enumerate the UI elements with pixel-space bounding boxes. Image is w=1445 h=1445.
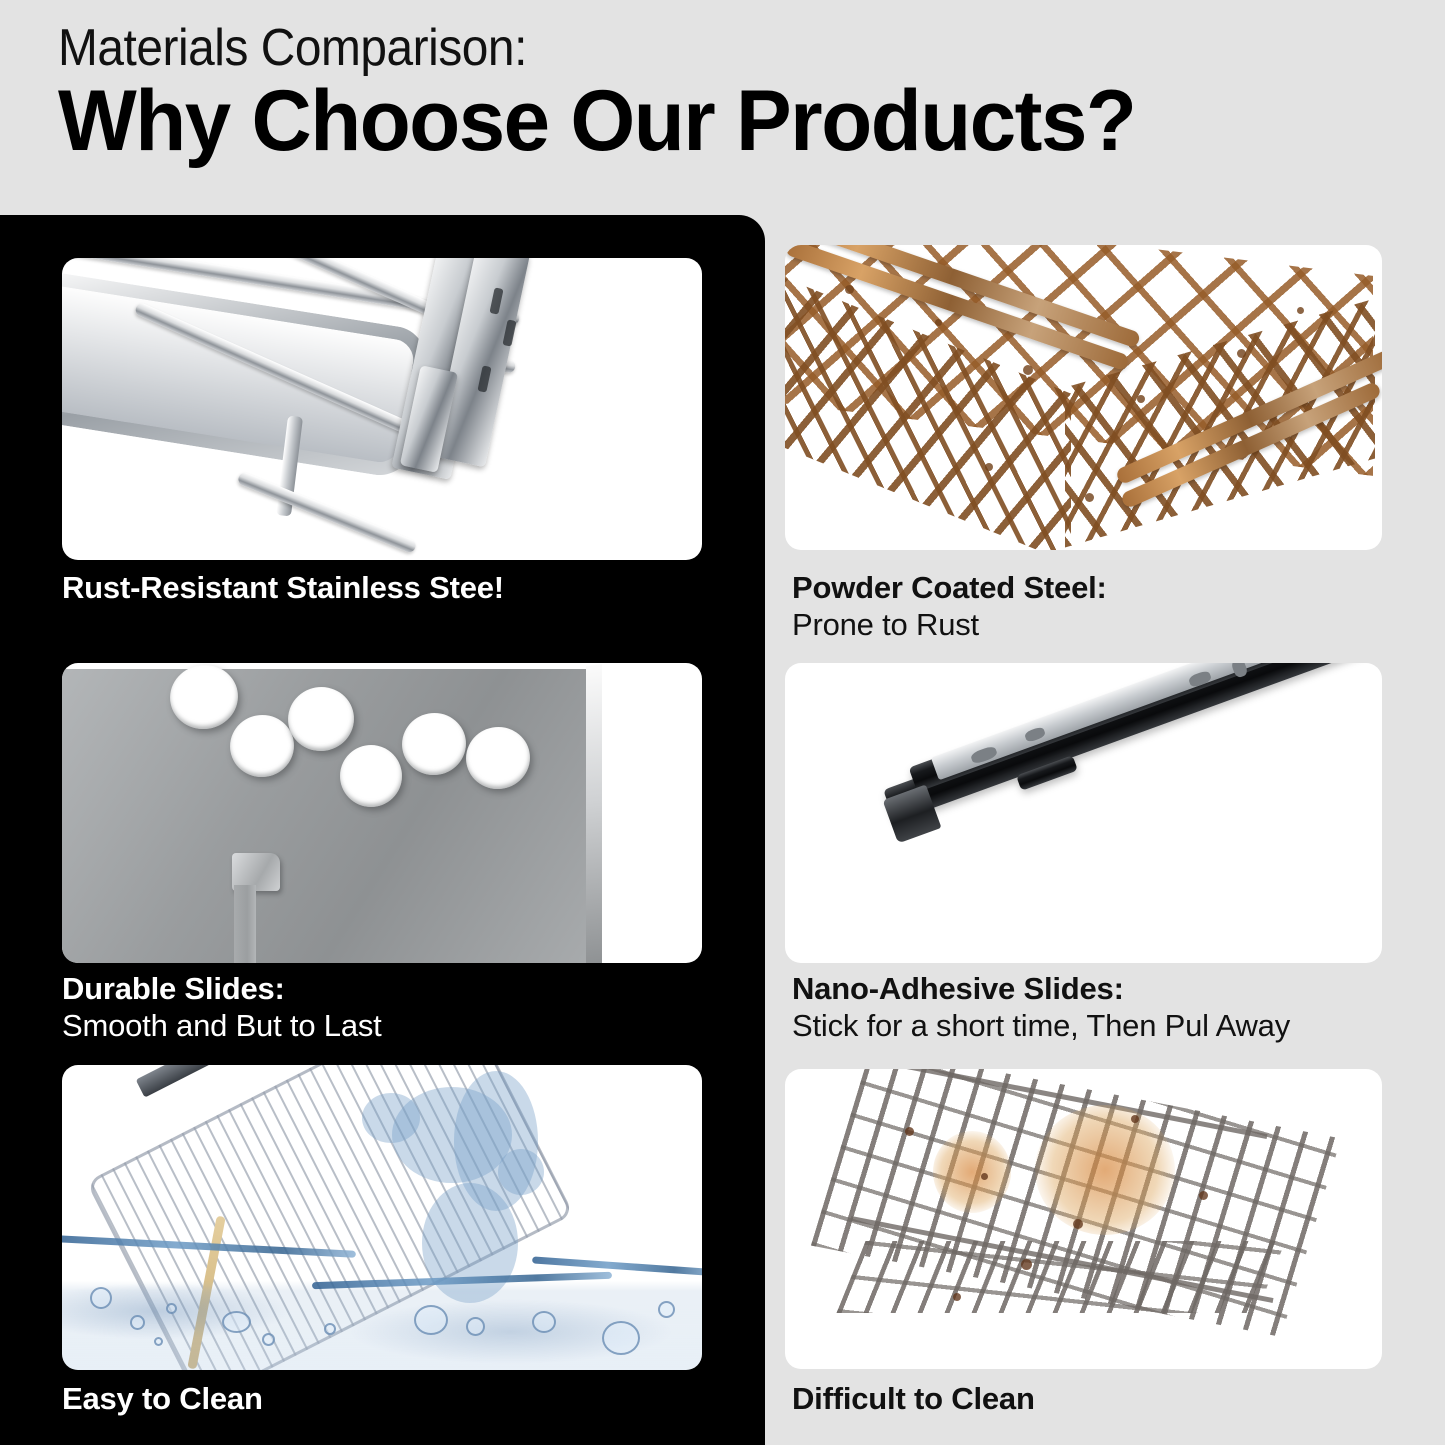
infographic-page: Materials Comparison: Why Choose Our Pro…: [0, 0, 1445, 1445]
left-row-2: Durable Slides: Smooth and But to Last: [0, 619, 765, 1049]
rust-art: [785, 245, 1382, 550]
right-caption-2-line1: Nano-Adhesive Slides:: [792, 971, 1290, 1008]
header-kicker: Materials Comparison:: [58, 22, 527, 74]
slide-art: [785, 663, 1382, 963]
chrome-wire-rack-with-slide-image: [62, 258, 702, 560]
left-caption-1-line1: Rust-Resistant Stainless Stee!: [62, 570, 504, 607]
right-caption-3: Difficult to Clean: [792, 1381, 1035, 1418]
right-caption-3-line1: Difficult to Clean: [792, 1381, 1035, 1418]
right-caption-1-line1: Powder Coated Steel:: [792, 570, 1107, 607]
dirty-art: [785, 1069, 1382, 1369]
right-row-2: Nano-Adhesive Slides: Stick for a short …: [765, 619, 1445, 1049]
left-row-1: Rust-Resistant Stainless Stee!: [0, 215, 765, 650]
right-row-1: Powder Coated Steel: Prone to Rust: [765, 215, 1445, 650]
rusty-wire-mesh-basket-corner-image: [785, 245, 1382, 550]
left-row-3: Easy to Clean: [0, 1023, 765, 1445]
black-drawer-slide-rail-image: [785, 663, 1382, 963]
page-title: Why Choose Our Products?: [58, 78, 1135, 164]
left-caption-3-line1: Easy to Clean: [62, 1381, 263, 1418]
stained-dirty-wire-basket-image: [785, 1069, 1382, 1369]
rack-art: [62, 258, 702, 560]
header: Materials Comparison: Why Choose Our Pro…: [0, 0, 1445, 215]
perforated-metal-slide-plate-image: [62, 663, 702, 963]
water-art: [62, 1065, 702, 1370]
right-row-3: Difficult to Clean: [765, 1023, 1445, 1445]
left-caption-1: Rust-Resistant Stainless Stee!: [62, 570, 504, 607]
left-caption-2-line1: Durable Slides:: [62, 971, 382, 1008]
left-caption-3: Easy to Clean: [62, 1381, 263, 1418]
plate-art: [62, 663, 702, 963]
wire-basket-water-splash-image: [62, 1065, 702, 1370]
